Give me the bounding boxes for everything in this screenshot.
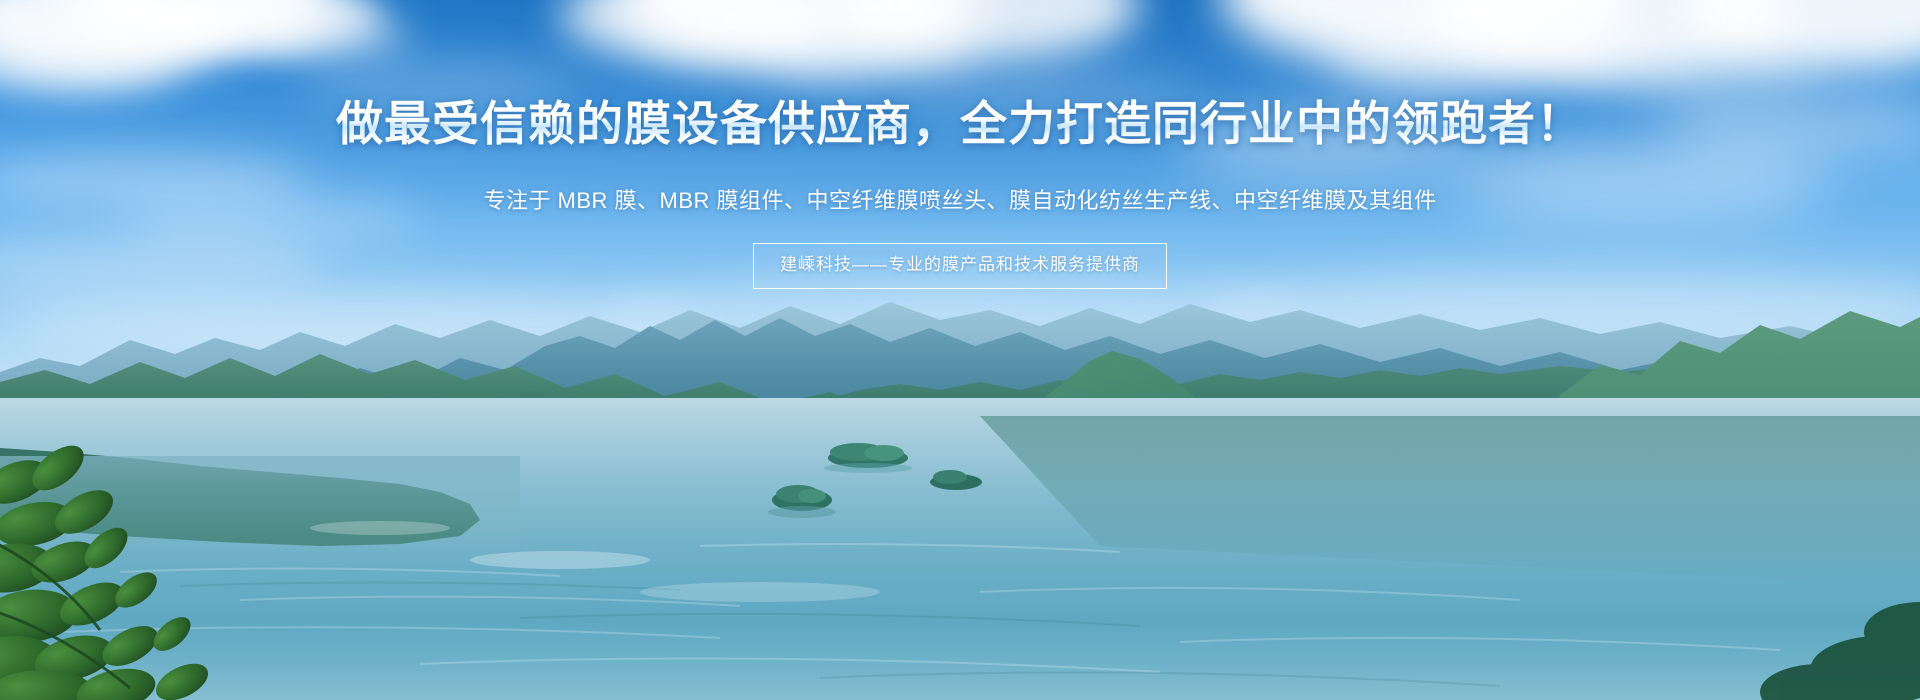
foreground-foliage — [0, 420, 1920, 700]
hero-banner: 做最受信赖的膜设备供应商，全力打造同行业中的领跑者！ 专注于 MBR 膜、MBR… — [0, 0, 1920, 700]
